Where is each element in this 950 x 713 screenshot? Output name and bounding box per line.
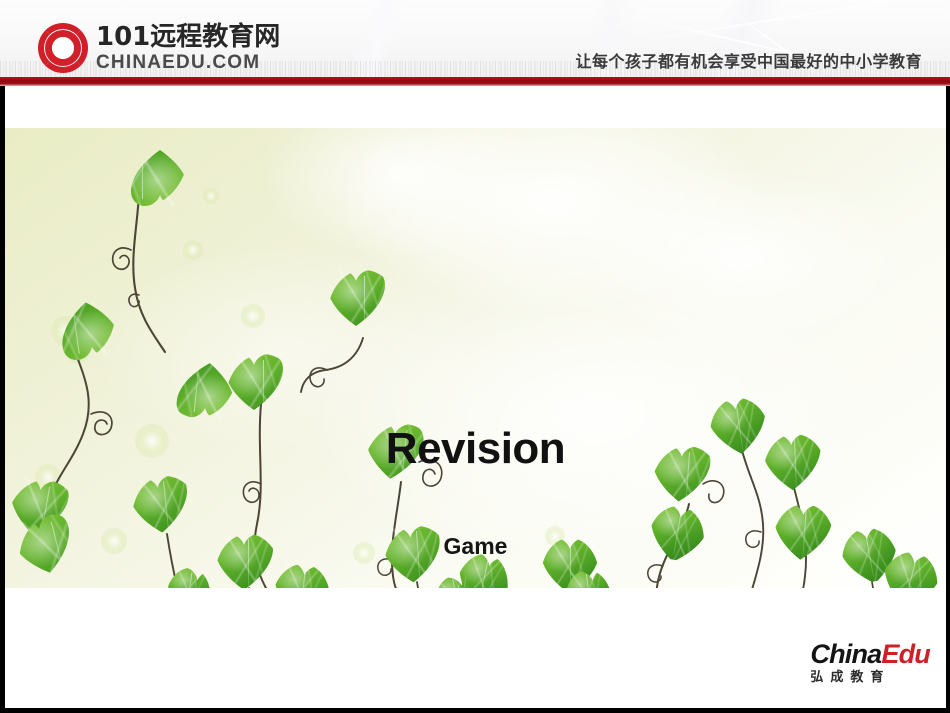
footer-logo-word-primary: China: [810, 639, 881, 669]
header-tagline: 让每个孩子都有机会享受中国最好的中小学教育: [575, 48, 922, 72]
brand-name-en: CHINAEDU.COM: [96, 52, 280, 73]
slide-frame: Revision Game ChinaEdu 弘成教育: [0, 86, 950, 713]
slide-title: Revision: [5, 424, 946, 474]
chinaedu-footer-logo[interactable]: ChinaEdu 弘成教育: [810, 640, 930, 686]
footer-logo-cn: 弘成教育: [810, 670, 930, 686]
slide-bottom-area: [5, 588, 946, 708]
chinaedu-ring-logo-icon[interactable]: [38, 23, 88, 73]
slide-background-artwork: Revision Game: [5, 128, 946, 588]
slide-subtitle: Game: [5, 533, 946, 560]
brand-name-cn: 101远程教育网: [96, 22, 280, 52]
footer-logo-word-accent: Edu: [881, 639, 930, 669]
page-header: 101远程教育网 CHINAEDU.COM 让每个孩子都有机会享受中国最好的中小…: [0, 0, 950, 77]
slide-top-margin: [5, 86, 946, 128]
header-divider-rule: [0, 77, 950, 86]
header-streak-decoration: [640, 0, 937, 42]
footer-logo-wordmark: ChinaEdu: [810, 640, 930, 669]
brand-logotype[interactable]: 101远程教育网 CHINAEDU.COM: [96, 22, 280, 73]
logo-ring-center: [54, 39, 72, 57]
slide-viewport: 101远程教育网 CHINAEDU.COM 让每个孩子都有机会享受中国最好的中小…: [0, 0, 950, 713]
